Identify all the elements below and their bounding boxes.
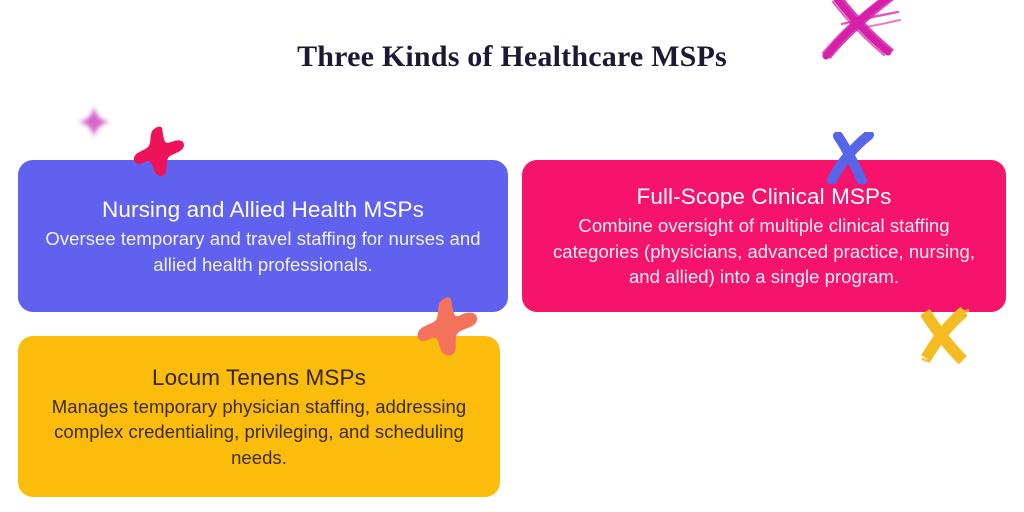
card-heading: Nursing and Allied Health MSPs xyxy=(102,195,424,225)
card-body: Combine oversight of multiple clinical s… xyxy=(536,213,992,290)
sparkle-icon xyxy=(76,104,112,140)
card-heading: Full-Scope Clinical MSPs xyxy=(637,182,892,212)
infographic-canvas: Three Kinds of Healthcare MSPs xyxy=(0,0,1024,512)
card-heading: Locum Tenens MSPs xyxy=(152,363,366,393)
card-body: Manages temporary physician staffing, ad… xyxy=(40,394,478,471)
card-full-scope-clinical[interactable]: Full-Scope Clinical MSPs Combine oversig… xyxy=(522,160,1006,312)
page-title: Three Kinds of Healthcare MSPs xyxy=(0,38,1024,76)
card-locum-tenens[interactable]: Locum Tenens MSPs Manages temporary phys… xyxy=(18,336,500,497)
brush-cross-icon xyxy=(916,306,974,364)
card-body: Oversee temporary and travel staffing fo… xyxy=(40,226,486,277)
card-nursing-allied-health[interactable]: Nursing and Allied Health MSPs Oversee t… xyxy=(18,160,508,312)
